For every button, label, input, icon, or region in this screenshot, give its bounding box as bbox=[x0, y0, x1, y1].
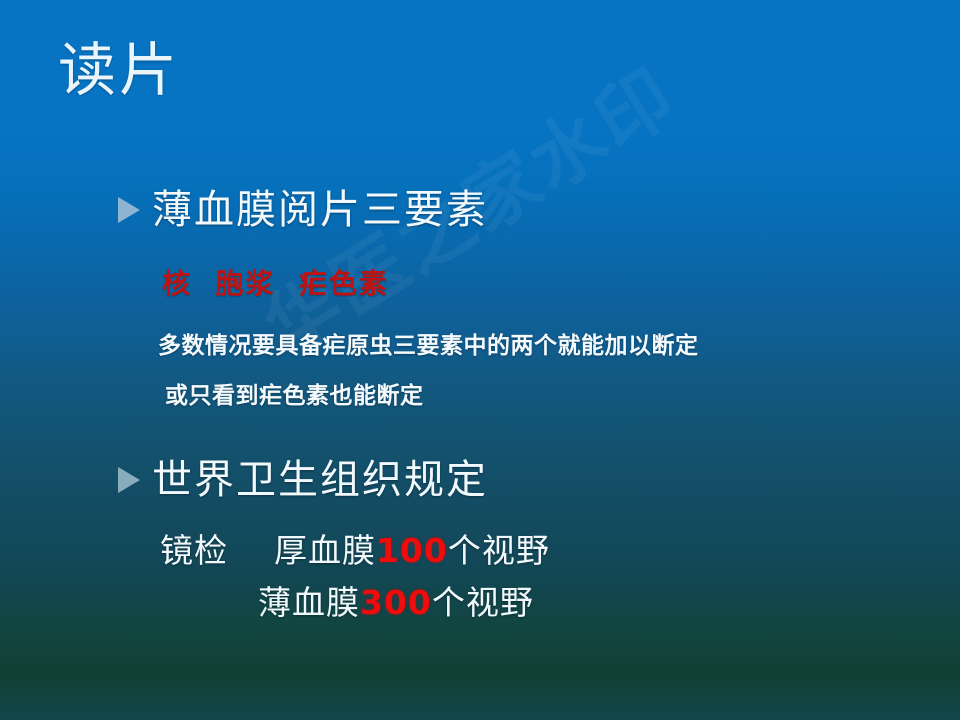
triangle-right-icon bbox=[118, 197, 140, 223]
bullet-label: 世界卫生组织规定 bbox=[152, 458, 488, 502]
body-line: 多数情况要具备疟原虫三要素中的两个就能加以断定 bbox=[158, 326, 699, 360]
emphasis-text: 核 胞浆 疟色素 bbox=[162, 262, 389, 302]
body-line: 或只看到疟色素也能断定 bbox=[165, 376, 424, 410]
spec-line-thin-smear: 薄血膜300个视野 bbox=[258, 576, 534, 624]
spec-prefix: 薄血膜 bbox=[258, 583, 360, 622]
spec-suffix: 个视野 bbox=[432, 583, 534, 622]
spec-line-thick-smear: 镜检 厚血膜100个视野 bbox=[160, 524, 550, 572]
bullet-label: 薄血膜阅片三要素 bbox=[152, 188, 488, 232]
presentation-slide: 华医之家水印 读片 薄血膜阅片三要素 核 胞浆 疟色素 多数情况要具备疟原虫三要… bbox=[0, 0, 960, 720]
spec-number: 100 bbox=[376, 531, 448, 570]
triangle-right-icon bbox=[118, 467, 140, 493]
spec-suffix: 个视野 bbox=[448, 531, 550, 570]
spec-prefix: 镜检 厚血膜 bbox=[160, 531, 376, 570]
page-title: 读片 bbox=[58, 40, 180, 101]
spec-number: 300 bbox=[360, 583, 432, 622]
slide-content: 读片 薄血膜阅片三要素 核 胞浆 疟色素 多数情况要具备疟原虫三要素中的两个就能… bbox=[0, 0, 960, 720]
bullet-item-thin-smear-elements: 薄血膜阅片三要素 bbox=[118, 188, 488, 232]
bullet-item-who-regulation: 世界卫生组织规定 bbox=[118, 458, 488, 502]
